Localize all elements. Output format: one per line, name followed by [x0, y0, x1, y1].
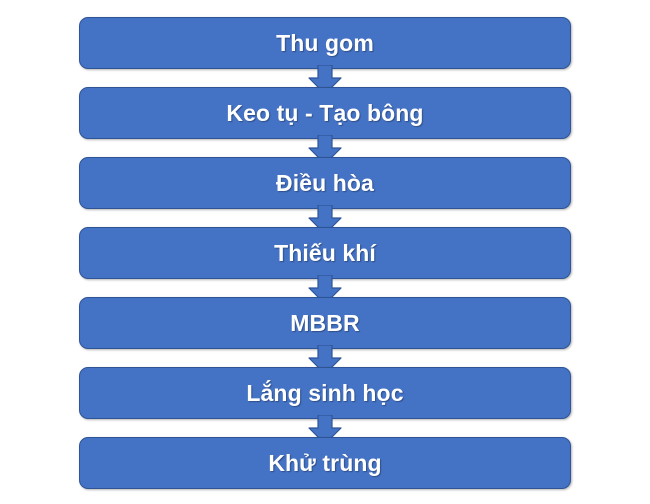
- process-step-5[interactable]: MBBR: [79, 297, 571, 349]
- process-step-6[interactable]: Lắng sinh học: [79, 367, 571, 419]
- process-step-label: Keo tụ - Tạo bông: [226, 102, 423, 125]
- process-step-label: Lắng sinh học: [246, 382, 403, 405]
- process-step-label: Điều hòa: [276, 172, 374, 195]
- process-step-7[interactable]: Khử trùng: [79, 437, 571, 489]
- process-flowchart: Thu gom Keo tụ - Tạo bông Điều hòa Thiếu…: [0, 0, 650, 504]
- process-step-3[interactable]: Điều hòa: [79, 157, 571, 209]
- process-step-label: Thiếu khí: [274, 242, 376, 265]
- process-step-2[interactable]: Keo tụ - Tạo bông: [79, 87, 571, 139]
- process-step-label: Khử trùng: [268, 452, 381, 475]
- process-step-label: MBBR: [290, 312, 359, 335]
- process-step-1[interactable]: Thu gom: [79, 17, 571, 69]
- process-step-label: Thu gom: [276, 32, 374, 55]
- process-step-4[interactable]: Thiếu khí: [79, 227, 571, 279]
